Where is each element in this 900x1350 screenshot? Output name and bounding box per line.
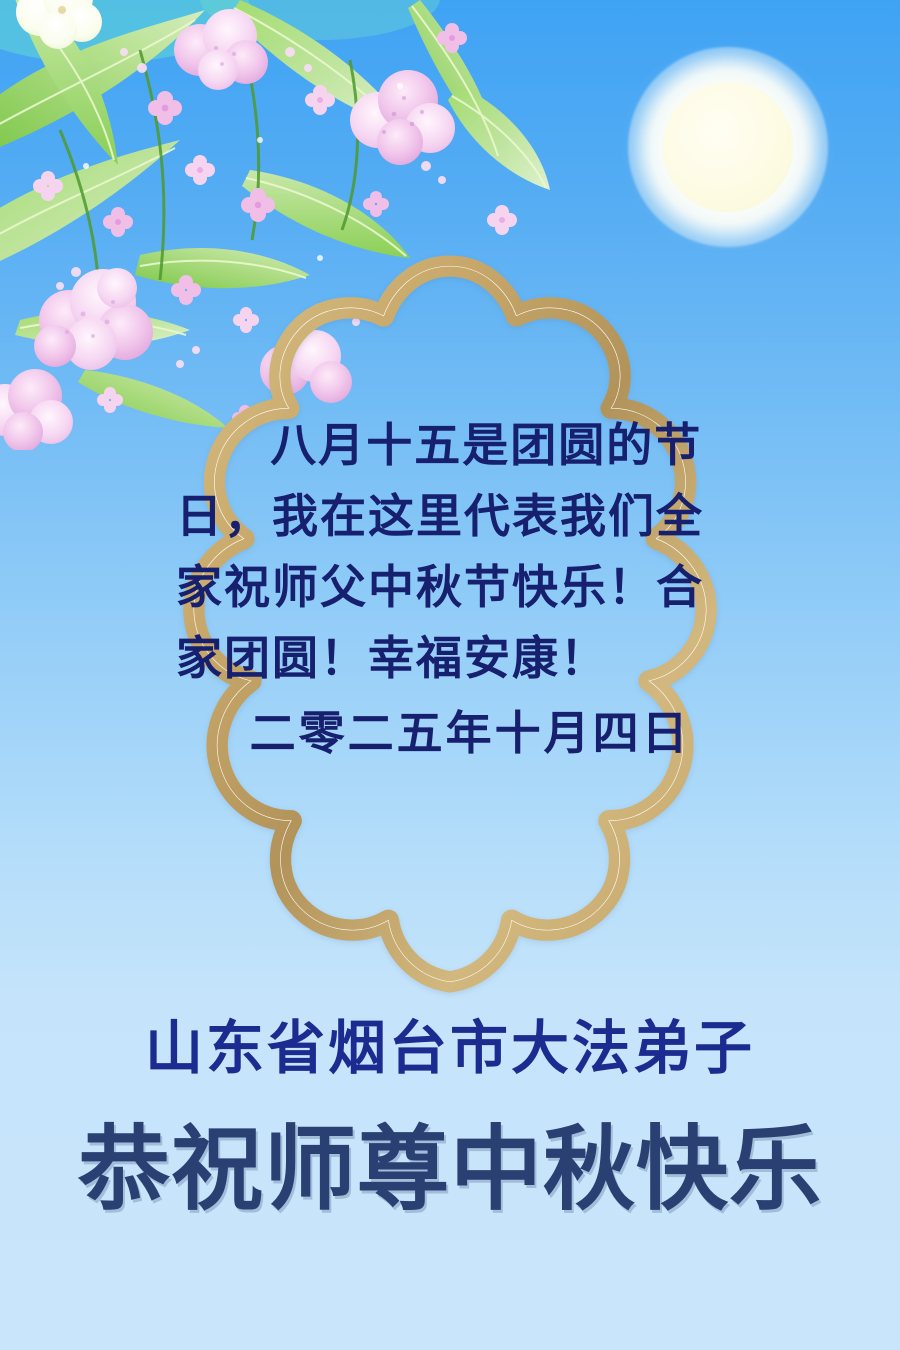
letter-paragraph: 八月十五是团圆的节日，我在这里代表我们全家祝师父中秋节快乐！合家团圆！幸福安康！ bbox=[176, 410, 736, 694]
greeting-card: 八月十五是团圆的节日，我在这里代表我们全家祝师父中秋节快乐！合家团圆！幸福安康！… bbox=[0, 0, 900, 1350]
main-greeting-title: 恭祝师尊中秋快乐 bbox=[0, 1114, 900, 1226]
letter-date: 二零二五年十月四日 bbox=[176, 698, 736, 769]
letter-body: 八月十五是团圆的节日，我在这里代表我们全家祝师父中秋节快乐！合家团圆！幸福安康！… bbox=[176, 410, 736, 769]
moon-icon bbox=[663, 82, 793, 212]
signature-line: 山东省烟台市大法弟子 bbox=[0, 1014, 900, 1082]
